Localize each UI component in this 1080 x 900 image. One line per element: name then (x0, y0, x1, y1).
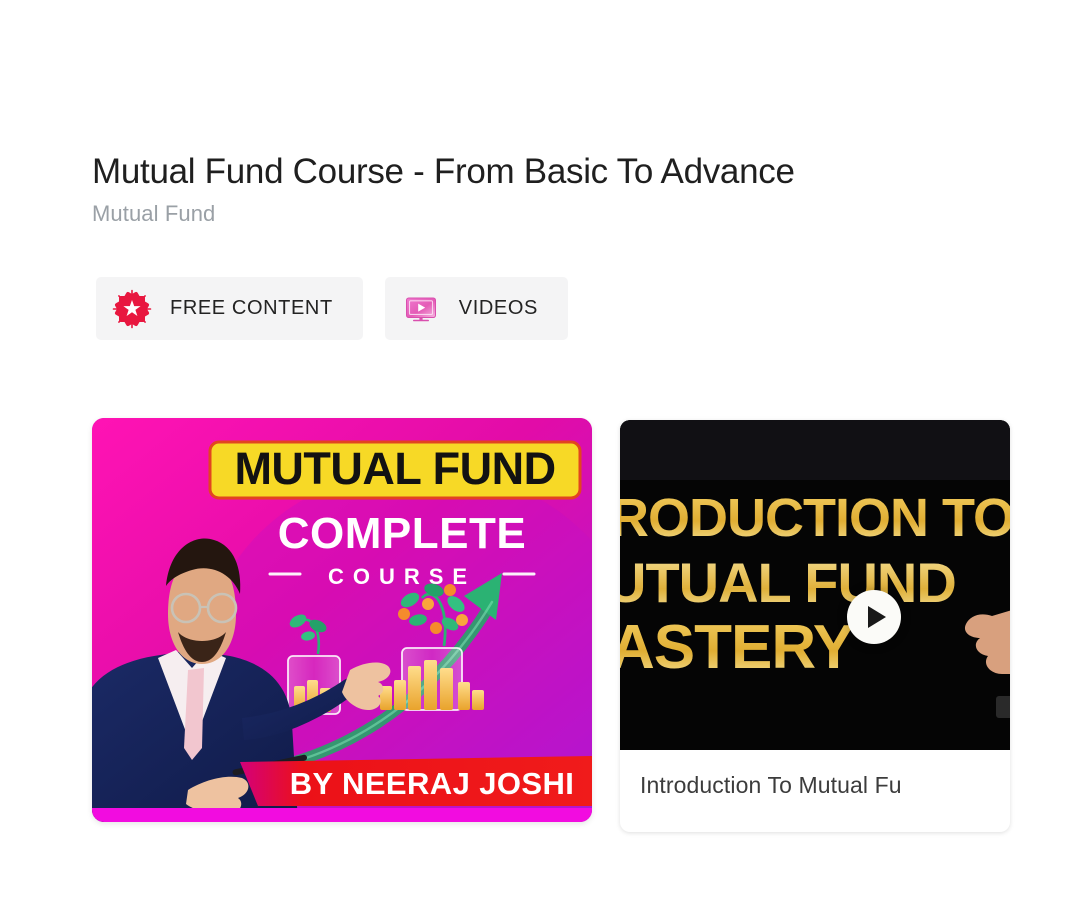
svg-text:UTUAL FUND: UTUAL FUND (620, 551, 956, 614)
play-icon (868, 606, 886, 628)
play-button[interactable] (847, 590, 901, 644)
page-title: Mutual Fund Course - From Basic To Advan… (92, 152, 992, 192)
video-monitor-icon (401, 289, 441, 329)
video-caption: Introduction To Mutual Fu (620, 750, 1010, 799)
chip-label-videos: VIDEOS (459, 297, 538, 320)
course-detail-page: Mutual Fund Course - From Basic To Advan… (0, 0, 1080, 900)
course-header: Mutual Fund Course - From Basic To Advan… (92, 152, 992, 227)
chip-free-content[interactable]: FREE CONTENT (96, 277, 363, 340)
starburst-badge-icon (112, 289, 152, 329)
svg-text:BY NEERAJ JOSHI: BY NEERAJ JOSHI (290, 766, 575, 801)
svg-text:MUTUAL FUND: MUTUAL FUND (234, 443, 555, 494)
svg-text:COURSE: COURSE (328, 564, 476, 589)
svg-text:ASTERY: ASTERY (620, 613, 854, 682)
course-cover-artwork: MUTUAL FUND COMPLETE COURSE BY NEERAJ JO… (92, 418, 592, 822)
video-thumbnail-artwork: RODUCTION TO UTUAL FUND ASTERY (620, 420, 1010, 750)
video-list-item[interactable]: RODUCTION TO UTUAL FUND ASTERY Introduct… (620, 420, 1010, 832)
chip-label-free-content: FREE CONTENT (170, 297, 333, 320)
course-cover-image[interactable]: MUTUAL FUND COMPLETE COURSE BY NEERAJ JO… (92, 418, 592, 822)
chip-videos[interactable]: VIDEOS (385, 277, 568, 340)
chip-row: FREE CONTENT VIDEOS (96, 277, 568, 340)
svg-text:RODUCTION TO: RODUCTION TO (620, 488, 1010, 548)
svg-text:COMPLETE: COMPLETE (278, 509, 526, 558)
course-category-label: Mutual Fund (92, 201, 992, 227)
video-thumbnail[interactable]: RODUCTION TO UTUAL FUND ASTERY (620, 420, 1010, 750)
